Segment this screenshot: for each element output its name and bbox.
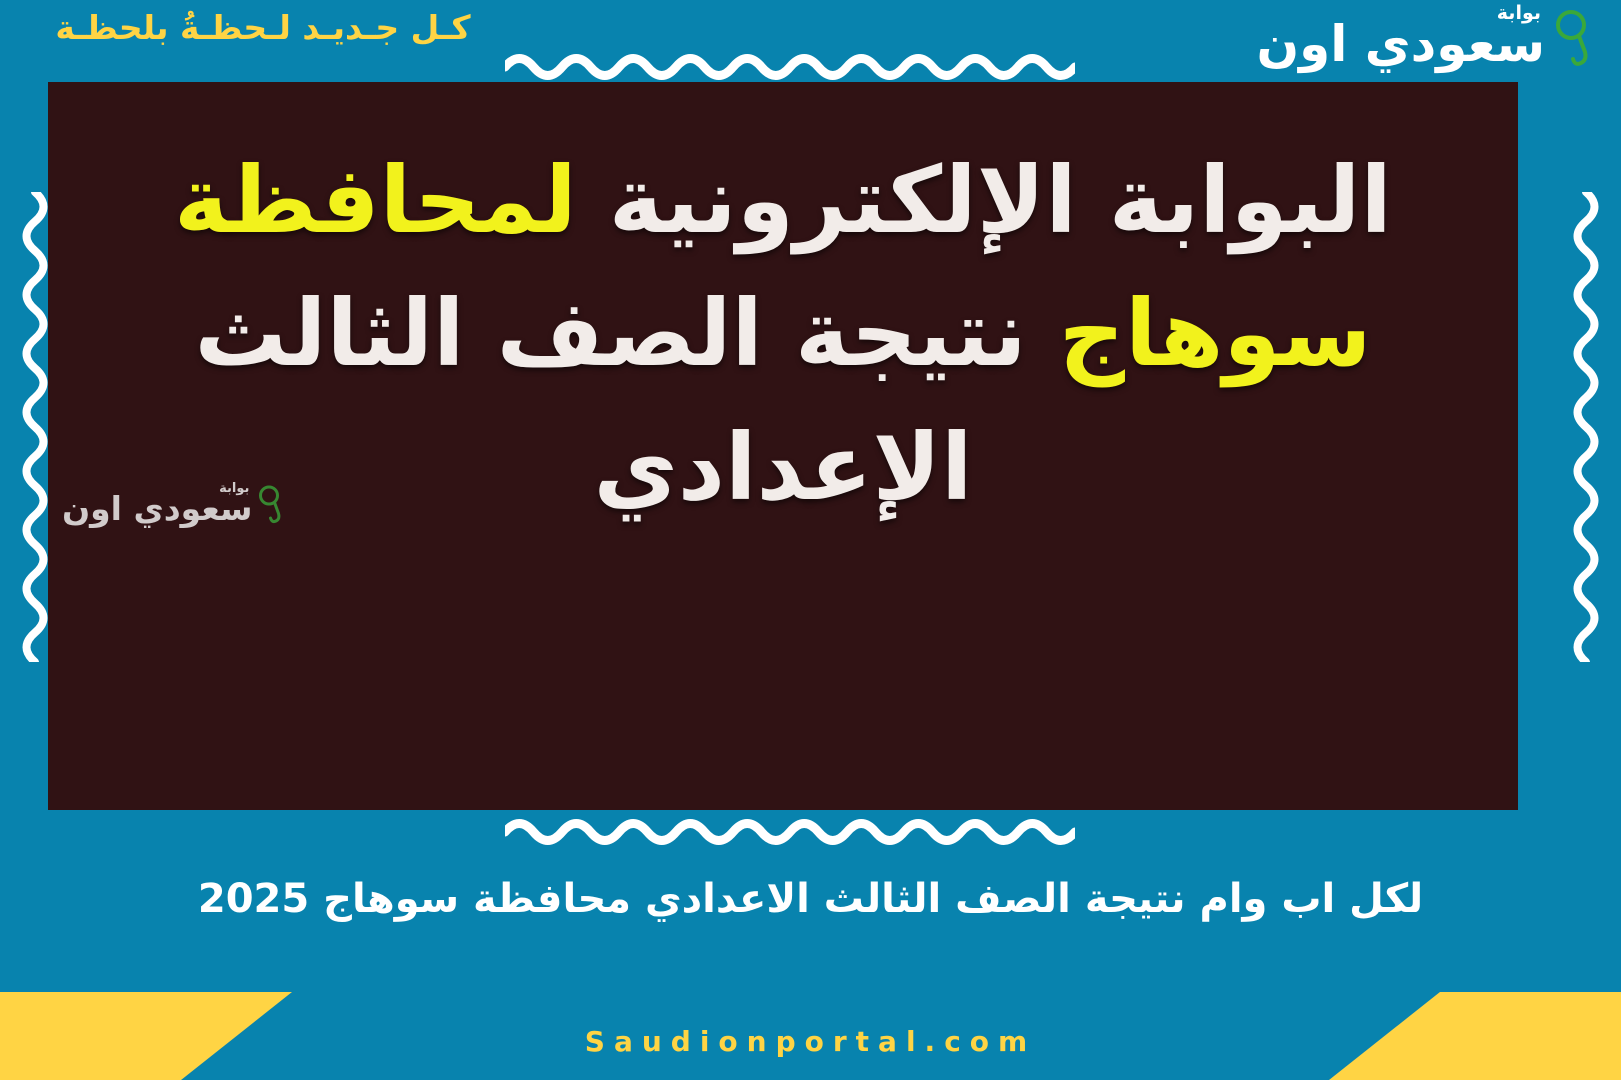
card-watermark: بوابة سعودي اون: [62, 482, 286, 525]
headline-text: البوابة الإلكترونية لمحافظة سوهاج نتيجة …: [48, 134, 1518, 534]
wave-bottom-decoration: [505, 815, 1075, 849]
watermark-magnifier-icon: [256, 483, 286, 524]
brand-logo: بوابة سعودي اون: [1256, 4, 1597, 69]
wave-left-decoration: [18, 192, 52, 662]
headline-line1-accent: لمحافظة: [174, 147, 577, 254]
watermark-text: بوابة سعودي اون: [62, 482, 252, 525]
headline-line2-accent: سوهاج: [1059, 280, 1372, 387]
footer-url: Saudionportal.com: [0, 1025, 1621, 1058]
headline-line1-white: البوابة الإلكترونية: [609, 147, 1392, 254]
headline-line3-white: الإعدادي: [593, 414, 972, 521]
banner-page: كـل جـديـد لـحظـةُ بلحظـة بوابة سعودي او…: [0, 0, 1621, 1080]
wave-right-decoration: [1569, 192, 1603, 662]
magnifier-icon: [1551, 6, 1597, 68]
wave-top-decoration: [505, 50, 1075, 84]
headline-line2-white: نتيجة الصف الثالث: [194, 280, 1026, 387]
brand-text: بوابة سعودي اون: [1256, 4, 1545, 69]
brand-main-label: سعودي اون: [1256, 19, 1545, 69]
watermark-main-label: سعودي اون: [62, 492, 252, 525]
headline-card: البوابة الإلكترونية لمحافظة سوهاج نتيجة …: [48, 82, 1518, 810]
bottom-caption: لكل اب وام نتيجة الصف الثالث الاعدادي مح…: [0, 876, 1621, 922]
top-tagline: كـل جـديـد لـحظـةُ بلحظـة: [28, 8, 498, 47]
